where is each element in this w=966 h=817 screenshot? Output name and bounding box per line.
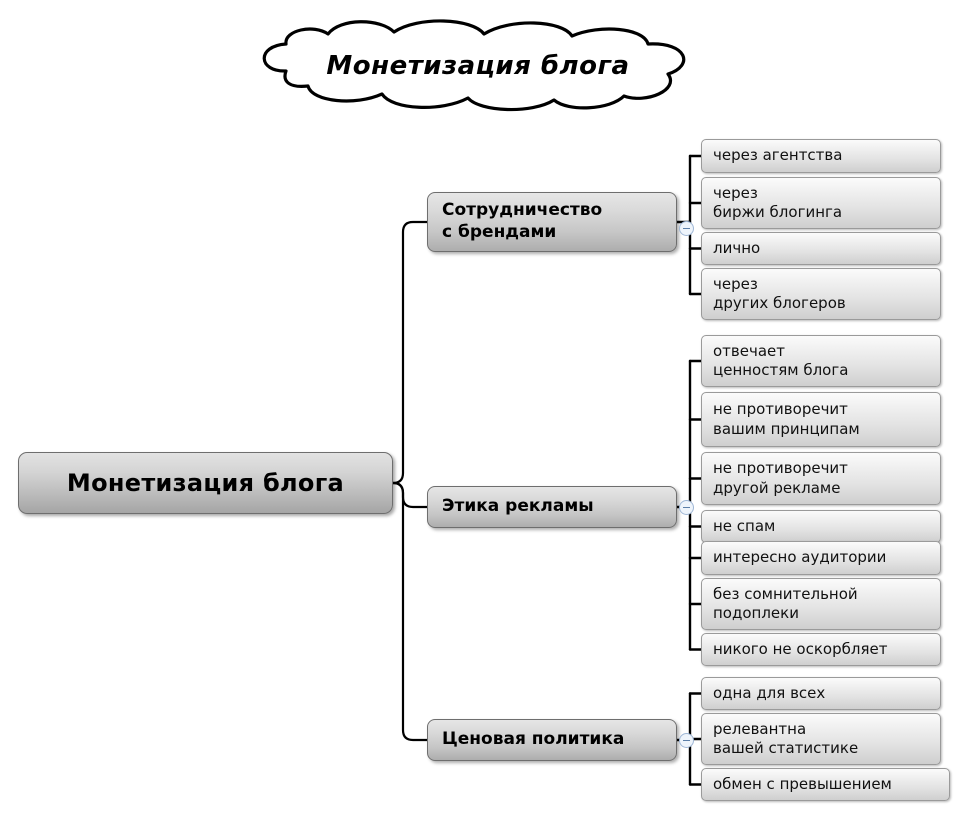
title-text: Монетизация блога <box>228 16 728 116</box>
minus-icon <box>683 740 690 741</box>
minus-icon <box>683 228 690 229</box>
collapse-toggle-branch-3[interactable] <box>679 733 694 748</box>
leaf-node-cooperation-4[interactable]: через других блогеров <box>701 268 941 320</box>
branch-node-ethics[interactable]: Этика рекламы <box>427 486 677 528</box>
collapse-toggle-branch-2[interactable] <box>679 500 694 515</box>
branch-node-pricing[interactable]: Ценовая политика <box>427 719 677 761</box>
leaf-node-pricing-2[interactable]: релевантна вашей статистике <box>701 713 941 765</box>
minus-icon <box>683 507 690 508</box>
branch-node-cooperation[interactable]: Сотрудничество с брендами <box>427 192 677 252</box>
root-node[interactable]: Монетизация блога <box>18 452 393 514</box>
leaf-node-ethics-6[interactable]: без сомнительной подоплеки <box>701 578 941 630</box>
title-cloud: Монетизация блога <box>228 16 728 116</box>
leaf-node-ethics-3[interactable]: не противоречит другой рекламе <box>701 452 941 505</box>
leaf-node-ethics-1[interactable]: отвечает ценностям блога <box>701 335 941 387</box>
leaf-node-cooperation-1[interactable]: через агентства <box>701 139 941 173</box>
leaf-node-cooperation-3[interactable]: лично <box>701 232 941 265</box>
leaf-node-ethics-4[interactable]: не спам <box>701 510 941 543</box>
leaf-node-ethics-2[interactable]: не противоречит вашим принципам <box>701 392 941 447</box>
leaf-node-pricing-3[interactable]: обмен с превышением <box>701 768 950 801</box>
collapse-toggle-branch-1[interactable] <box>679 221 694 236</box>
leaf-node-ethics-7[interactable]: никого не оскорбляет <box>701 633 941 666</box>
leaf-node-cooperation-2[interactable]: через биржи блогинга <box>701 177 941 229</box>
mindmap-canvas: Монетизация блога Монетизация блога Сотр… <box>0 0 966 817</box>
leaf-node-ethics-5[interactable]: интересно аудитории <box>701 541 941 575</box>
leaf-node-pricing-1[interactable]: одна для всех <box>701 677 941 710</box>
